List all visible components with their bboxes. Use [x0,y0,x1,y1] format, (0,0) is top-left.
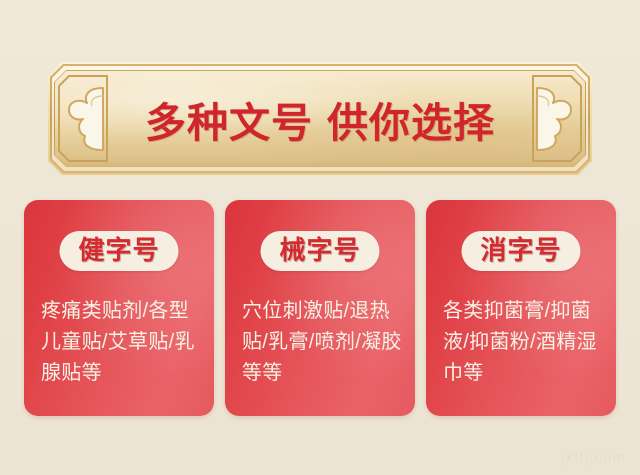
category-card-list: 健字号 疼痛类贴剂/各型儿童贴/艾草贴/乳腺贴等 械字号 穴位刺激贴/退热贴/乳… [24,200,616,416]
card-badge: 械字号 [260,231,379,271]
category-card-xiezihao[interactable]: 械字号 穴位刺激贴/退热贴/乳膏/喷剂/凝胶等等 [225,200,415,416]
card-description: 疼痛类贴剂/各型儿童贴/艾草贴/乳腺贴等 [41,296,202,389]
card-badge: 健字号 [59,231,178,271]
card-description: 各类抑菌膏/抑菌液/抑菌粉/酒精湿巾等 [443,296,604,389]
banner-title-part1: 多种文号 [145,89,313,149]
promo-page: 多种文号 供你选择 健字号 疼痛类贴剂/各型儿童贴/艾草贴/乳腺贴等 械字号 穴… [0,0,640,475]
banner-title-part2: 供你选择 [327,89,495,149]
card-description: 穴位刺激贴/退热贴/乳膏/喷剂/凝胶等等 [242,296,403,389]
card-badge: 消字号 [461,231,580,271]
category-card-jianzihao[interactable]: 健字号 疼痛类贴剂/各型儿童贴/艾草贴/乳腺贴等 [24,200,214,416]
category-card-xiaozihao[interactable]: 消字号 各类抑菌膏/抑菌液/抑菌粉/酒精湿巾等 [426,200,616,416]
title-banner: 多种文号 供你选择 [48,62,592,175]
watermark: jxftj.com [561,449,626,465]
banner-title: 多种文号 供你选择 [48,62,592,175]
